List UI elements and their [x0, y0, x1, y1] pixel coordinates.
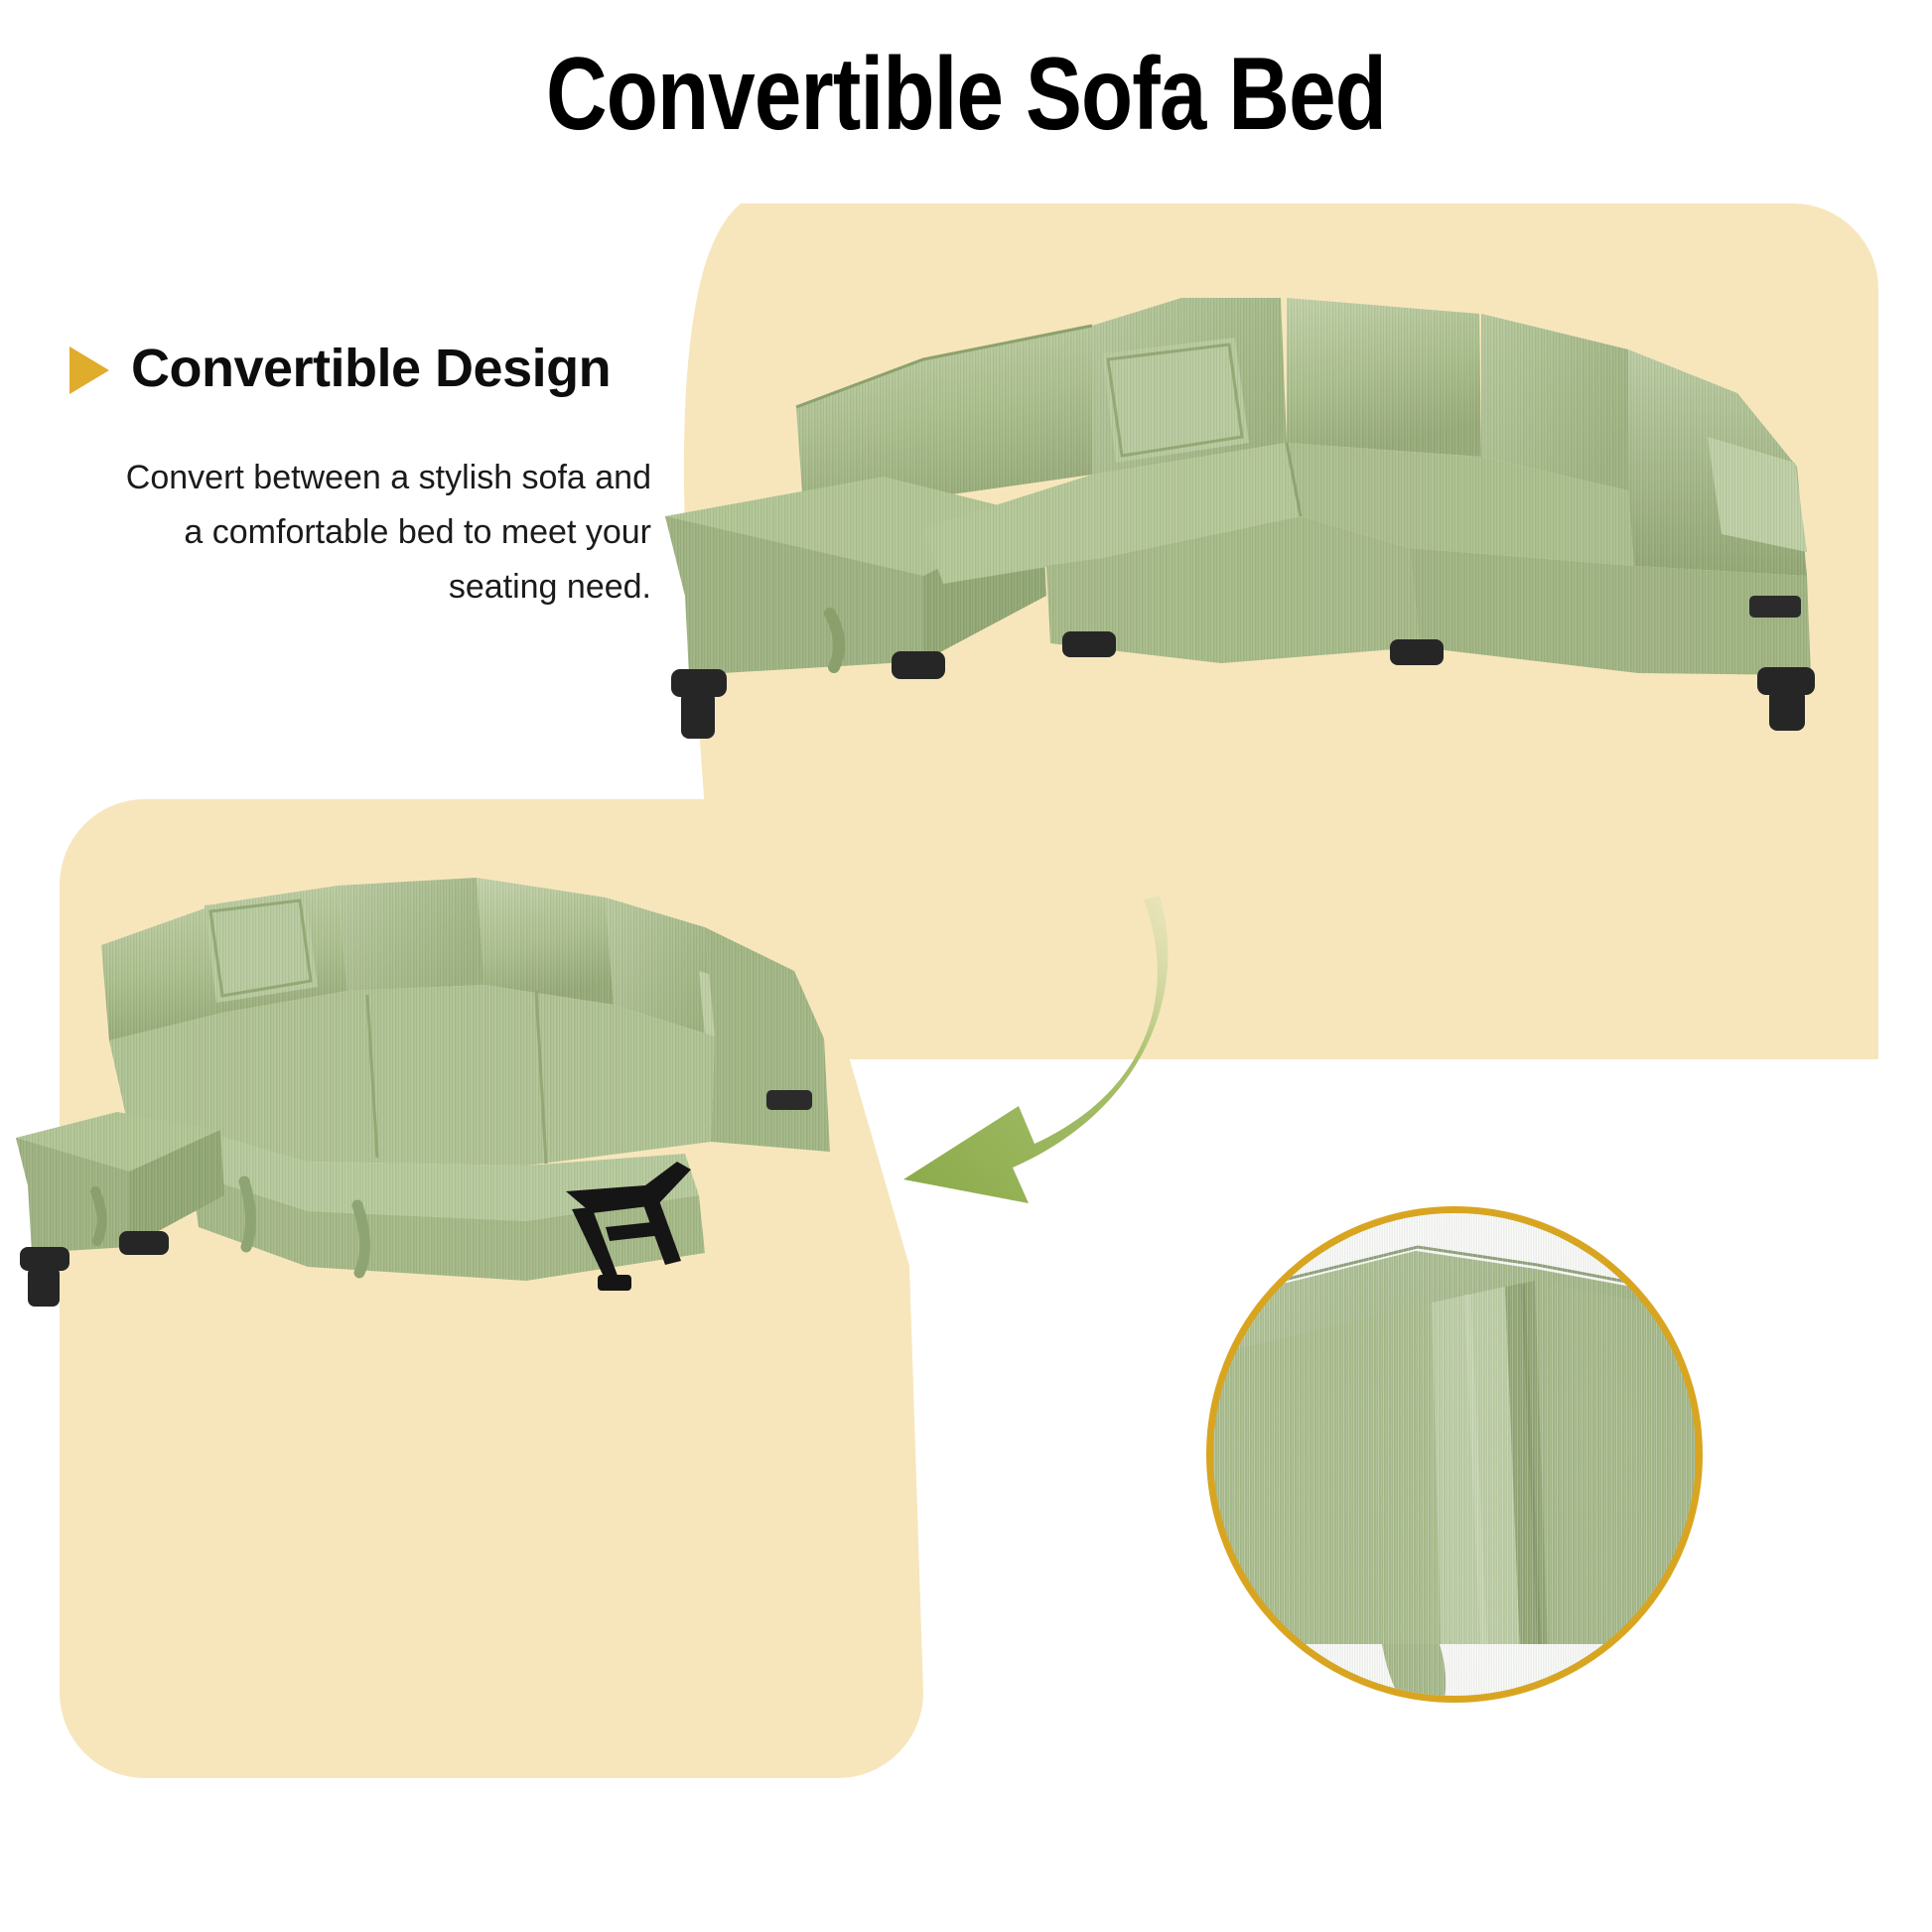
feature-description-line: Convert between a stylish sofa and [69, 451, 651, 505]
feature-heading-row: Convertible Design [69, 338, 665, 399]
sofa-bed-image [10, 864, 884, 1340]
triangle-right-icon [69, 346, 109, 394]
feature-description-line: a comfortable bed to meet your [69, 505, 651, 560]
poster-canvas: Convertible Sofa Bed Convertible Design … [0, 0, 1932, 1932]
sectional-sofa-image [625, 268, 1866, 784]
convert-arrow [824, 894, 1201, 1221]
feature-heading: Convertible Design [131, 338, 611, 399]
feature-block: Convertible Design Convert between a sty… [69, 338, 665, 615]
feature-description-line: seating need. [69, 560, 651, 615]
fabric-texture-closeup [1206, 1206, 1703, 1703]
feature-description: Convert between a stylish sofa and a com… [69, 451, 665, 615]
page-title: Convertible Sofa Bed [174, 36, 1758, 154]
